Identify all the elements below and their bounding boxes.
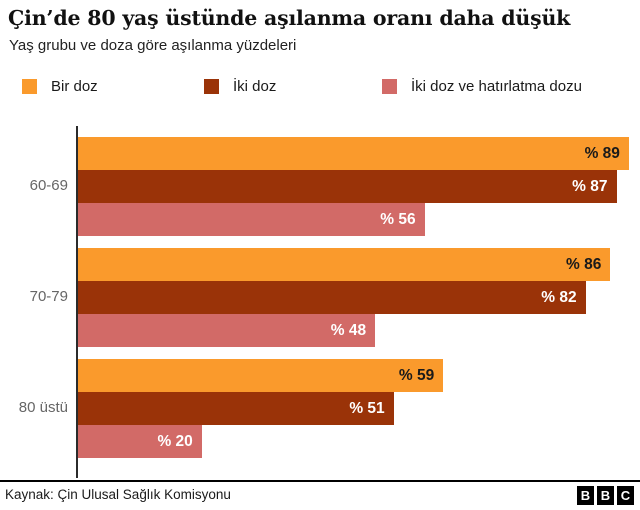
bbc-bar-chart: Çin’de 80 yaş üstünde aşılanma oranı dah… bbox=[0, 0, 640, 510]
plot-area: 60-69% 89% 87% 5670-79% 86% 82% 4880 üst… bbox=[0, 126, 640, 478]
bar-value-label: % 59 bbox=[399, 367, 443, 385]
source-note: Kaynak: Çin Ulusal Sağlık Komisyonu bbox=[5, 487, 231, 502]
category-label-0: 60-69 bbox=[0, 177, 68, 194]
bar-value-label: % 86 bbox=[566, 256, 610, 274]
legend-item-label: Bir doz bbox=[51, 76, 98, 97]
bar-value-label: % 51 bbox=[349, 400, 393, 418]
bar-2-0: % 59 bbox=[78, 359, 443, 392]
bar-value-label: % 87 bbox=[572, 178, 616, 196]
bar-0-0: % 89 bbox=[78, 137, 629, 170]
chart-title: Çin’de 80 yaş üstünde aşılanma oranı dah… bbox=[8, 6, 636, 30]
bar-0-1: % 87 bbox=[78, 170, 617, 203]
bar-value-label: % 48 bbox=[331, 322, 375, 340]
legend-swatch-icon bbox=[22, 79, 37, 94]
bar-0-2: % 56 bbox=[78, 203, 425, 236]
bar-1-0: % 86 bbox=[78, 248, 610, 281]
chart-subtitle: Yaş grubu ve doza göre aşılanma yüzdeler… bbox=[9, 37, 629, 54]
footer-divider bbox=[0, 480, 640, 482]
bar-value-label: % 82 bbox=[541, 289, 585, 307]
bar-value-label: % 56 bbox=[380, 211, 424, 229]
bar-value-label: % 20 bbox=[157, 433, 201, 451]
category-label-1: 70-79 bbox=[0, 288, 68, 305]
bbc-logo-letter-0: B bbox=[577, 486, 594, 505]
bbc-logo: BBC bbox=[577, 486, 634, 505]
bar-2-2: % 20 bbox=[78, 425, 202, 458]
bar-2-1: % 51 bbox=[78, 392, 394, 425]
legend-item-1: İki doz bbox=[204, 76, 276, 97]
legend-swatch-icon bbox=[204, 79, 219, 94]
bar-value-label: % 89 bbox=[585, 145, 629, 163]
legend-swatch-icon bbox=[382, 79, 397, 94]
bbc-logo-letter-2: C bbox=[617, 486, 634, 505]
legend-item-label: İki doz bbox=[233, 76, 276, 97]
bar-1-1: % 82 bbox=[78, 281, 586, 314]
legend-item-2: İki doz ve hatırlatma dozu bbox=[382, 76, 582, 97]
chart-legend: Bir dozİki dozİki doz ve hatırlatma dozu bbox=[22, 76, 632, 124]
category-label-2: 80 üstü bbox=[0, 399, 68, 416]
legend-item-label: İki doz ve hatırlatma dozu bbox=[411, 76, 582, 97]
bar-1-2: % 48 bbox=[78, 314, 375, 347]
bbc-logo-letter-1: B bbox=[597, 486, 614, 505]
legend-item-0: Bir doz bbox=[22, 76, 98, 97]
